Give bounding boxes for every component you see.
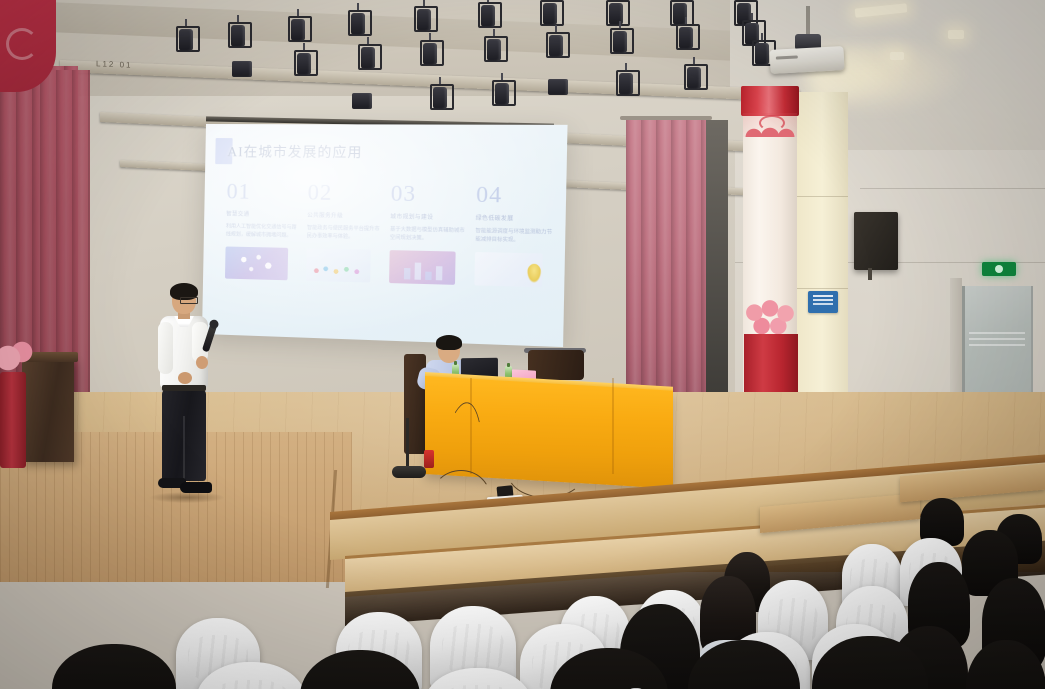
stage-spotlight-icon [484, 36, 504, 66]
curtain-rod [620, 116, 712, 120]
slide-column-body: 基于大数据与模型仿真辅助城市空间规划决策。 [390, 226, 465, 245]
stage-spotlight-icon [420, 40, 440, 70]
slide-column-body: 智能能源调度与环境监测助力节能减排目标实现。 [475, 227, 552, 246]
slide-column-body: 利用人工智能优化交通信号与路线规划，缓解城市拥堵问题。 [226, 223, 297, 241]
presenter-leg-seam [183, 416, 185, 480]
stage-curtain-right [626, 118, 706, 418]
column-ornament [743, 113, 797, 137]
mic-stand-pole [406, 418, 409, 468]
stage-spotlight-icon [546, 32, 566, 62]
slide-column-number: 01 [226, 180, 297, 203]
stage-spotlight-icon [684, 64, 704, 94]
slide-column: 04 绿色低碳发展 智能能源调度与环境监测助力节能减排目标实现。 [473, 183, 553, 338]
slide-column-heading: 公共服务升级 [307, 212, 380, 222]
stage-spotlight-icon [288, 16, 308, 46]
stage-spotlight-icon [540, 0, 560, 30]
skyline-bars-icon [404, 258, 443, 280]
stage-spotlight-icon [358, 44, 378, 74]
chair-at-table [528, 350, 584, 380]
wall-seam [860, 188, 1045, 189]
slide-column-number: 02 [307, 181, 380, 204]
slide-column-number: 04 [476, 183, 553, 207]
stage-spotlight-icon [348, 10, 368, 40]
slide-column-heading: 绿色低碳发展 [476, 214, 553, 224]
stage-spotlight-icon [492, 80, 512, 110]
presenter-belt [162, 385, 206, 391]
network-nodes-icon [235, 252, 278, 275]
slide-column-body: 智能政务与便民服务平台提升市民办事效率与体验。 [307, 224, 380, 242]
presenter-arm [158, 322, 173, 374]
slide-column: 01 智慧交通 利用人工智能优化交通信号与路线规划，缓解城市拥堵问题。 [224, 180, 298, 329]
vase-flowers [0, 340, 36, 380]
stage-spotlight-icon [176, 26, 196, 56]
stage-spotlight-icon [232, 58, 252, 88]
wall-panel-seam [796, 288, 848, 289]
slide-column-number: 03 [391, 182, 466, 206]
presenter-hand [178, 372, 192, 384]
slide-thumbnail-wrap [306, 248, 379, 282]
lightbulb-icon [527, 263, 542, 282]
slide-thumbnail-wrap [225, 246, 296, 280]
mic-stand-base [392, 466, 426, 478]
lecture-hall-photo: L12 01 AI在城市发展的应用 [0, 0, 1045, 689]
stage-spotlight-icon [606, 0, 626, 30]
audience-area [0, 520, 1045, 689]
recessed-ceiling-light [948, 30, 964, 39]
stage-spotlight-icon [610, 28, 630, 58]
projection-screen: AI在城市发展的应用 01 智慧交通 利用人工智能优化交通信号与路线规划，缓解城… [202, 124, 568, 347]
blue-wall-sign [808, 291, 838, 313]
column-cap [741, 86, 799, 116]
speaker-mount [868, 268, 872, 280]
stage-spotlight-icon [228, 22, 248, 52]
stage-spotlight-icon [548, 76, 568, 106]
wall-speaker-icon [854, 212, 898, 270]
stage-spotlight-icon [414, 6, 434, 36]
stage-spotlight-icon [616, 70, 636, 100]
stage-spotlight-icon [676, 24, 696, 54]
truss-label: L12 01 [96, 59, 132, 69]
table-cloth-fold [612, 378, 614, 474]
presenter [152, 286, 214, 498]
presenter-hand [196, 356, 208, 369]
slide-column-heading: 智慧交通 [226, 210, 297, 219]
stage-spotlight-icon [478, 2, 498, 32]
stage-spotlight-icon [352, 90, 372, 120]
seated-host-hair [436, 335, 462, 350]
audience-person [52, 644, 176, 689]
slide-title: AI在城市发展的应用 [227, 140, 363, 161]
slide-thumbnail-wrap [474, 252, 551, 287]
exit-sign-icon [982, 262, 1016, 276]
slide-column: 02 公共服务升级 智能政务与便民服务平台提升市民办事效率与体验。 [305, 181, 381, 332]
presentation-slide: AI在城市发展的应用 01 智慧交通 利用人工智能优化交通信号与路线规划，缓解城… [202, 124, 568, 347]
people-figures-icon [312, 260, 364, 276]
projector-icon [769, 46, 844, 74]
stage-spotlight-icon [430, 84, 450, 114]
slide-columns: 01 智慧交通 利用人工智能优化交通信号与路线规划，缓解城市拥堵问题。 02 公… [224, 180, 555, 338]
glasses-icon [180, 297, 198, 304]
slide-column-heading: 城市规划与建设 [390, 213, 465, 223]
wall-panel-seam [796, 196, 848, 197]
red-equipment-box [424, 450, 434, 468]
wall-panel [796, 92, 848, 412]
floor-vase [0, 372, 26, 468]
slide-column: 03 城市规划与建设 基于大数据与模型仿真辅助城市空间规划决策。 [388, 182, 466, 335]
slide-thumbnail-wrap [389, 250, 464, 285]
stage-spotlight-icon [294, 50, 314, 80]
presenter-shoe [180, 482, 212, 493]
